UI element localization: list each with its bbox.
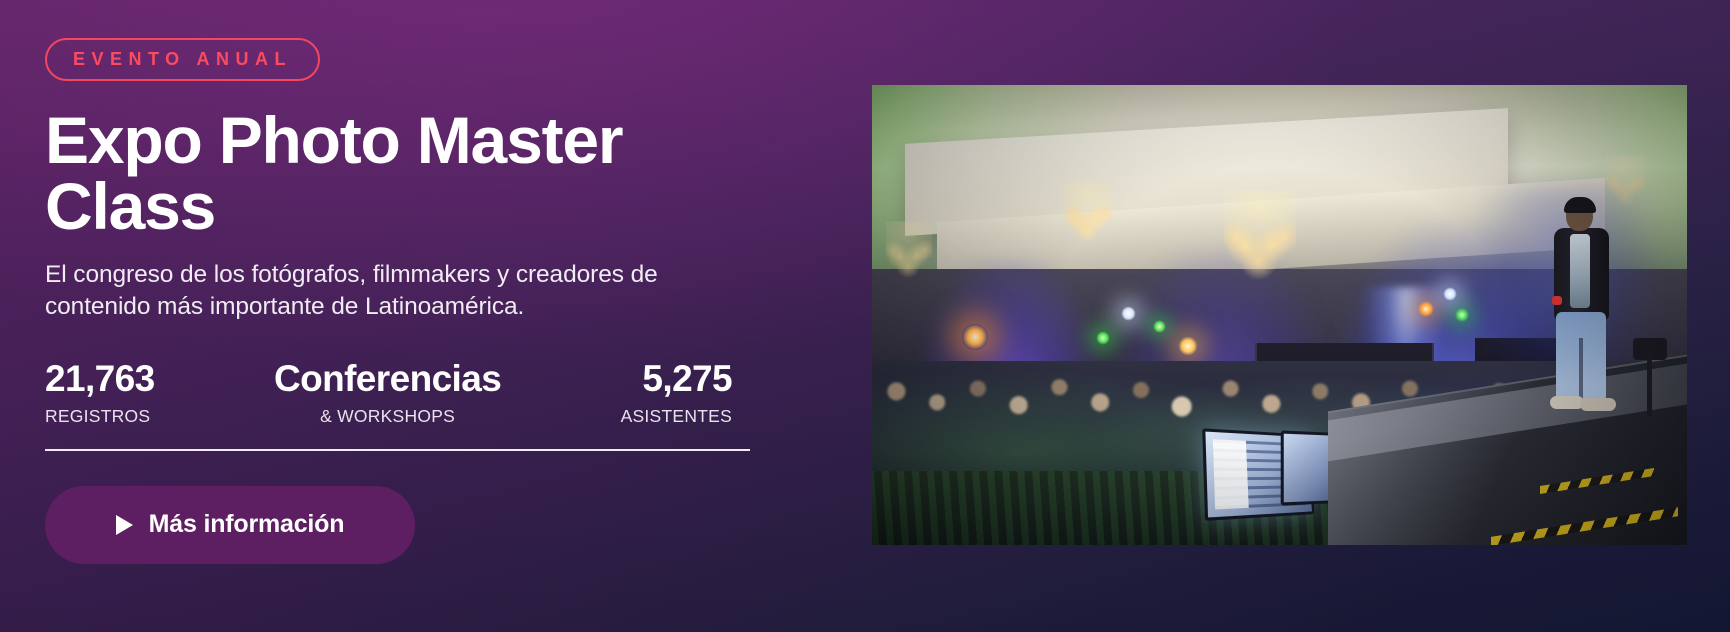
stat-value-asistentes: 5,275 xyxy=(621,360,732,399)
event-badge: EVENTO ANUAL xyxy=(45,38,320,81)
photo-vignette xyxy=(872,85,1687,545)
stat-label-asistentes: ASISTENTES xyxy=(621,406,732,427)
stat-label-conferencias: & WORKSHOPS xyxy=(274,406,501,427)
stat-value-conferencias: Conferencias xyxy=(274,360,501,399)
cta-label: Más información xyxy=(149,510,345,539)
hero-text-column: EVENTO ANUAL Expo Photo Master Class El … xyxy=(45,38,805,564)
conference-hall-photo xyxy=(872,85,1687,545)
stat-registros: 21,763 REGISTROS xyxy=(45,360,155,427)
stat-value-registros: 21,763 xyxy=(45,360,155,399)
stat-label-registros: REGISTROS xyxy=(45,406,155,427)
mas-informacion-button[interactable]: Más información xyxy=(45,486,415,564)
play-triangle-icon xyxy=(116,515,133,535)
hero-banner: EVENTO ANUAL Expo Photo Master Class El … xyxy=(0,0,1730,632)
stat-asistentes: 5,275 ASISTENTES xyxy=(621,360,750,427)
hero-subtitle: El congreso de los fotógrafos, filmmaker… xyxy=(45,259,735,324)
section-divider xyxy=(45,449,750,451)
stat-conferencias: Conferencias & WORKSHOPS xyxy=(274,360,501,427)
stats-row: 21,763 REGISTROS Conferencias & WORKSHOP… xyxy=(45,360,750,427)
page-title: Expo Photo Master Class xyxy=(45,107,685,239)
photo-composition xyxy=(872,85,1687,545)
